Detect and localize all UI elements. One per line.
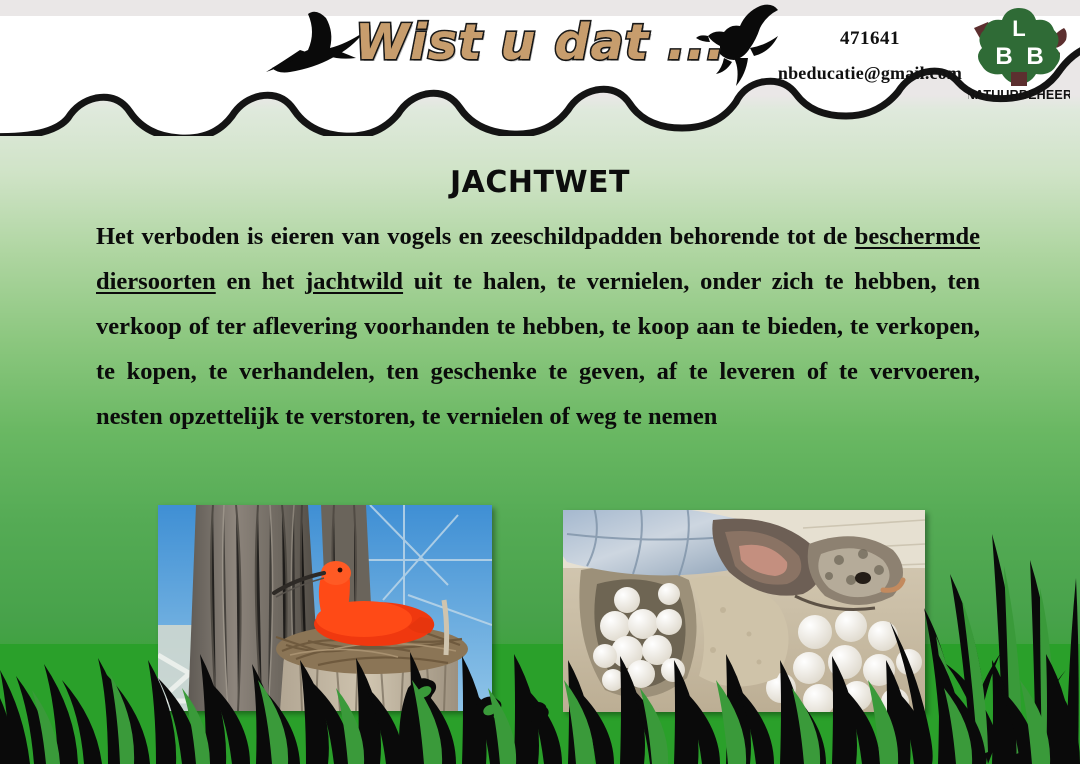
page-title: JACHTWET <box>0 165 1080 200</box>
body-segment-3: en het <box>216 268 305 295</box>
law-body-text: Het verboden is eieren van vogels en zee… <box>96 214 980 439</box>
body-segment-1: Het verboden is eieren van vogels en zee… <box>96 223 855 250</box>
banner-title: Wist u dat ... <box>355 14 726 71</box>
photo-sea-turtle-with-eggs <box>563 510 925 712</box>
contact-block: 471641 nbeducatie@gmail.com <box>770 28 970 84</box>
ibis-photo-illustration <box>158 505 492 711</box>
logo-caption: NATUURBEHEER <box>968 88 1070 102</box>
contact-email[interactable]: nbeducatie@gmail.com <box>770 63 970 84</box>
body-underlined-jachtwild: jachtwild <box>305 268 403 295</box>
logo-letter-l: L <box>1012 16 1025 41</box>
lbb-natuurbeheer-logo: L B B NATUURBEHEER <box>968 6 1070 102</box>
photo-scarlet-ibis-on-nest <box>158 505 492 711</box>
logo-tree-icon: L B B NATUURBEHEER <box>968 6 1070 102</box>
logo-letter-b-right: B <box>1026 43 1043 70</box>
logo-letter-b-left: B <box>995 43 1012 70</box>
turtle-photo-illustration <box>563 510 925 712</box>
poster-canvas: JACHTWET Het verboden is eieren van voge… <box>0 0 1080 764</box>
contact-phone: 471641 <box>770 28 970 50</box>
